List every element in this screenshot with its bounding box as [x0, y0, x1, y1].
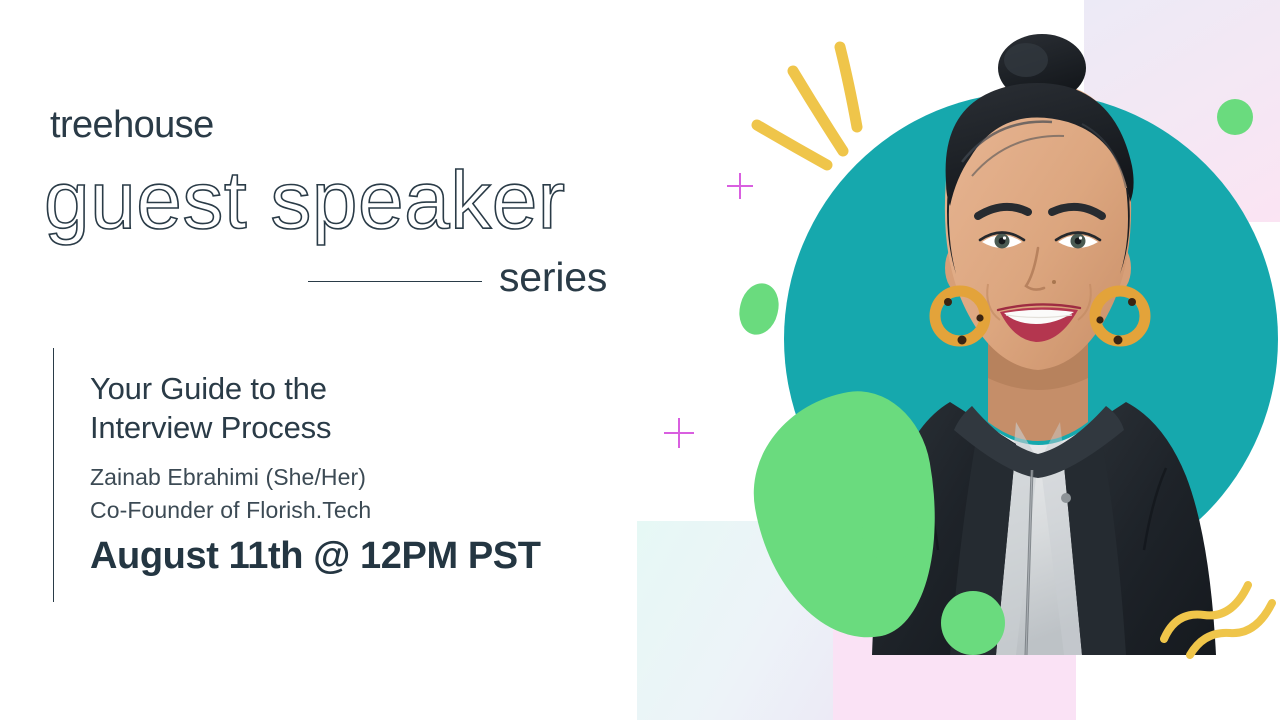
speaker-details: Zainab Ebrahimi (She/Her) Co-Founder of … — [90, 461, 371, 526]
speaker-role: Co-Founder of Florish.Tech — [90, 494, 371, 527]
guest-speaker-headline: guest speaker — [44, 160, 566, 242]
plus-icon-upper — [727, 173, 753, 199]
speaker-name: Zainab Ebrahimi (She/Her) — [90, 461, 371, 494]
treehouse-wordmark: treehouse — [50, 106, 214, 144]
green-pill-shape — [734, 279, 783, 339]
series-divider-rule — [308, 281, 482, 282]
event-datetime: August 11th @ 12PM PST — [90, 537, 541, 575]
green-dot-lower-left — [862, 505, 918, 561]
vertical-accent-rule — [53, 348, 54, 602]
yellow-squiggle-lines — [1160, 575, 1280, 670]
talk-title-line-1: Your Guide to the — [90, 369, 510, 408]
promo-graphic: Smiling woman with hair in a top bun, to… — [0, 0, 1280, 720]
series-label: series — [499, 257, 607, 298]
yellow-sparkle-strokes — [745, 35, 895, 180]
green-dot-bottom — [941, 591, 1005, 655]
talk-title-line-2: Interview Process — [90, 408, 510, 447]
plus-icon-lower — [664, 418, 694, 448]
talk-title: Your Guide to the Interview Process — [90, 369, 510, 447]
